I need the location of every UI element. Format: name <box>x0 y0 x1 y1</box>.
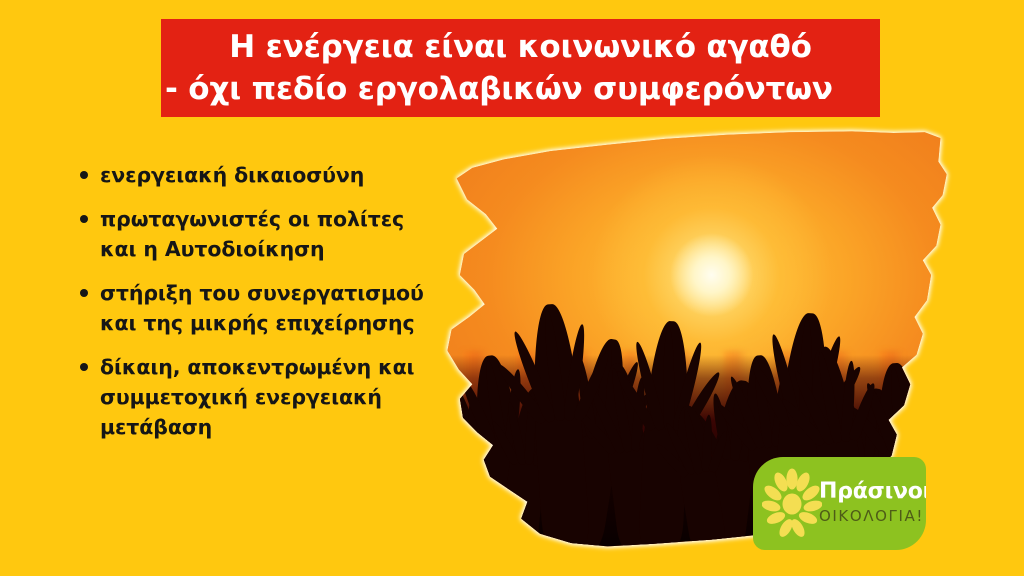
bullet-item-3: στήριξη του συνεργατισμού και της μικρής… <box>78 278 434 338</box>
finger <box>925 408 942 474</box>
title-banner: Η ενέργεια είναι κοινωνικό αγαθό - όχι π… <box>161 19 880 117</box>
bullet-text: δίκαιη, αποκεντρωμένη και συμμετοχική εν… <box>100 352 434 442</box>
bullet-item-4: δίκαιη, αποκεντρωμένη και συμμετοχική εν… <box>78 352 434 442</box>
bullet-item-1: ενεργειακή δικαιοσύνη <box>78 160 434 190</box>
logo-text-group: Πράσινοι ΟΙΚΟΛΟΓΙΑ! <box>819 479 923 526</box>
finger <box>904 377 927 452</box>
title-line-1: Η ενέργεια είναι κοινωνικό αγαθό <box>229 26 811 68</box>
title-line-2: - όχι πεδίο εργολαβικών συμφερόντων <box>165 68 833 110</box>
bullet-dot-icon <box>80 363 88 371</box>
bullet-text: πρωταγωνιστές οι πολίτες και η Αυτοδιοίκ… <box>100 204 434 264</box>
sunflower-icon <box>762 468 822 540</box>
bullet-dot-icon <box>80 289 88 297</box>
logo-subtitle: ΟΙΚΟΛΟΓΙΑ! <box>819 507 923 526</box>
finger <box>663 326 674 430</box>
bullet-text: ενεργειακή δικαιοσύνη <box>100 160 434 190</box>
bullet-text: στήριξη του συνεργατισμού και της μικρής… <box>100 278 434 338</box>
finger <box>932 421 962 477</box>
bullet-list: ενεργειακή δικαιοσύνη πρωταγωνιστές οι π… <box>78 160 434 456</box>
finger <box>913 398 947 453</box>
finger <box>939 440 973 480</box>
bullet-dot-icon <box>80 171 88 179</box>
bullet-dot-icon <box>80 215 88 223</box>
party-logo[interactable]: Πράσινοι ΟΙΚΟΛΟΓΙΑ! <box>753 457 926 550</box>
bullet-item-2: πρωταγωνιστές οι πολίτες και η Αυτοδιοίκ… <box>78 204 434 264</box>
logo-name: Πράσινοι <box>819 479 923 504</box>
slide-canvas: Η ενέργεια είναι κοινωνικό αγαθό - όχι π… <box>0 0 1024 576</box>
